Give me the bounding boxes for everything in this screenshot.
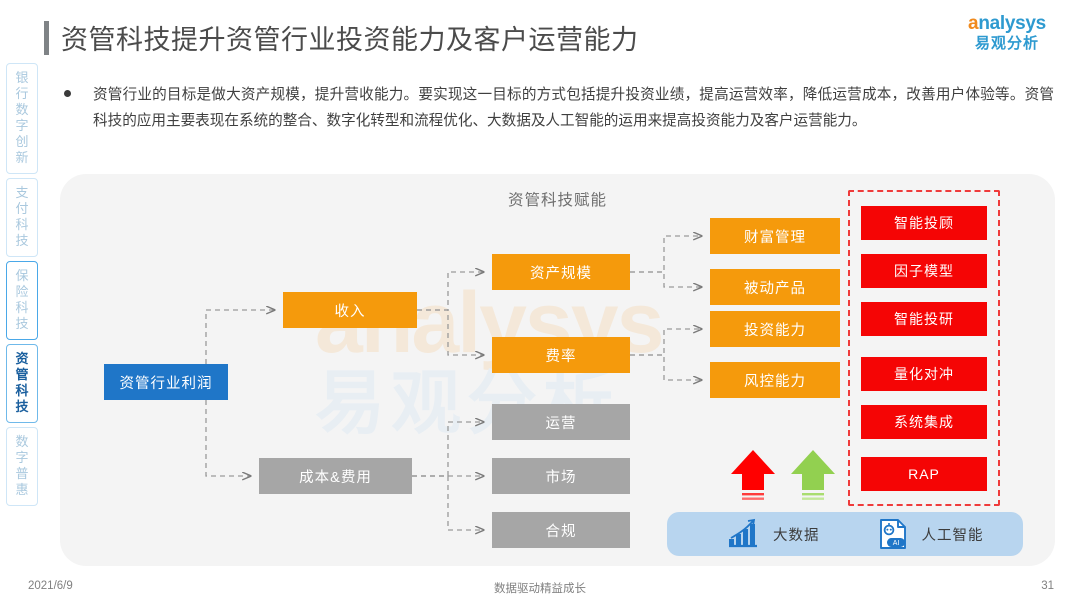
node-label: 费率: [546, 345, 577, 366]
node-label: 智能投研: [894, 309, 954, 329]
foundation-item-ai[interactable]: AI 人工智能: [876, 517, 984, 551]
node-operations[interactable]: 运营: [492, 404, 630, 440]
node-label: 量化对冲: [894, 364, 954, 384]
logo-letter-a: a: [968, 13, 978, 34]
node-label: 合规: [546, 520, 577, 541]
foundation-label: 大数据: [773, 524, 820, 545]
node-label: 资产规模: [530, 262, 592, 283]
tab-char: 付: [15, 201, 28, 217]
node-label: 风控能力: [744, 370, 806, 391]
ai-document-icon: AI: [876, 517, 910, 551]
tab-char: 惠: [15, 482, 28, 498]
analysys-logo: analysys 易观分析: [952, 14, 1062, 51]
sidebar-item-digital-inclusive-finance[interactable]: 数 字 普 惠: [6, 427, 38, 506]
red-up-arrow: [731, 450, 775, 500]
node-quant-hedging[interactable]: 量化对冲: [861, 357, 987, 391]
page-title: 资管科技提升资管行业投资能力及客户运营能力: [44, 18, 639, 57]
sidebar-item-bank-digital-innovation[interactable]: 银 行 数 字 创 新: [6, 63, 38, 174]
tab-char: 资: [15, 351, 28, 367]
node-label: RAP: [908, 466, 940, 482]
node-label: 因子模型: [894, 261, 954, 281]
node-label: 系统集成: [894, 412, 954, 432]
node-label: 资管行业利润: [120, 372, 213, 393]
bullet-paragraph-text: 资管行业的目标是做大资产规模，提升营收能力。要实现这一目标的方式包括提升投资业绩…: [93, 82, 1054, 134]
tab-char: 科: [15, 300, 28, 316]
footer: 2021/6/9 数据驱动精益成长 31: [0, 580, 1080, 596]
up-arrows: [725, 446, 855, 508]
node-label: 财富管理: [744, 226, 806, 247]
tab-char: 行: [15, 86, 28, 102]
tab-char: 创: [15, 134, 28, 150]
tab-char: 保: [15, 268, 28, 284]
node-factor-model[interactable]: 因子模型: [861, 254, 987, 288]
slide-root: 资管科技提升资管行业投资能力及客户运营能力 analysys 易观分析 资管行业…: [0, 0, 1080, 608]
bar-chart-icon: [723, 518, 761, 550]
tab-char: 普: [15, 466, 28, 482]
node-intelligent-research[interactable]: 智能投研: [861, 302, 987, 336]
node-label: 成本&费用: [299, 466, 372, 487]
sidebar-tabs: 银 行 数 字 创 新 支 付 科 技 保 险 科 技 资 管 科 技 数 字: [6, 63, 40, 510]
sidebar-item-insurance-tech[interactable]: 保 险 科 技: [6, 261, 38, 340]
node-label: 投资能力: [744, 319, 806, 340]
foundation-label: 人工智能: [922, 524, 984, 545]
footer-slogan: 数据驱动精益成长: [0, 580, 1080, 596]
tab-char: 管: [15, 367, 28, 383]
sidebar-item-payment-tech[interactable]: 支 付 科 技: [6, 178, 38, 257]
node-label: 被动产品: [744, 277, 806, 298]
logo-chinese-name: 易观分析: [952, 36, 1062, 51]
tab-char: 险: [15, 284, 28, 300]
node-label: 市场: [546, 466, 577, 487]
node-asset-scale[interactable]: 资产规模: [492, 254, 630, 290]
logo-wordmark: analysys: [952, 14, 1062, 33]
tab-char: 字: [15, 118, 28, 134]
diagram-card: 资管科技赋能 analysys 易观分析: [60, 174, 1055, 566]
foundation-panel: 大数据 AI 人工智能: [667, 512, 1023, 556]
node-market[interactable]: 市场: [492, 458, 630, 494]
node-rap[interactable]: RAP: [861, 457, 987, 491]
footer-page-number: 31: [1041, 580, 1054, 592]
tab-char: 数: [15, 102, 28, 118]
tab-char: 新: [15, 150, 28, 166]
node-revenue[interactable]: 收入: [283, 292, 417, 328]
node-fee-rate[interactable]: 费率: [492, 337, 630, 373]
node-investment-capability[interactable]: 投资能力: [710, 311, 840, 347]
foundation-item-bigdata[interactable]: 大数据: [723, 518, 820, 550]
node-wealth-management[interactable]: 财富管理: [710, 218, 840, 254]
node-compliance[interactable]: 合规: [492, 512, 630, 548]
tab-char: 技: [15, 316, 28, 332]
node-label: 智能投顾: [894, 213, 954, 233]
page-title-text: 资管科技提升资管行业投资能力及客户运营能力: [61, 18, 639, 57]
bullet-dot-icon: [64, 90, 71, 97]
node-label: 收入: [335, 300, 366, 321]
tab-char: 数: [15, 434, 28, 450]
node-passive-products[interactable]: 被动产品: [710, 269, 840, 305]
tab-char: 技: [15, 233, 28, 249]
node-system-integration[interactable]: 系统集成: [861, 405, 987, 439]
tab-char: 支: [15, 185, 28, 201]
node-label: 运营: [546, 412, 577, 433]
node-robo-advisor[interactable]: 智能投顾: [861, 206, 987, 240]
logo-wordmark-rest: nalysys: [978, 13, 1046, 34]
bullet-paragraph: 资管行业的目标是做大资产规模，提升营收能力。要实现这一目标的方式包括提升投资业绩…: [64, 82, 1054, 134]
tab-char: 科: [15, 383, 28, 399]
sidebar-item-asset-management-tech[interactable]: 资 管 科 技: [6, 344, 38, 423]
tab-char: 银: [15, 70, 28, 86]
node-risk-control-capability[interactable]: 风控能力: [710, 362, 840, 398]
svg-text:AI: AI: [892, 540, 899, 547]
tab-char: 科: [15, 217, 28, 233]
node-asset-management-profit[interactable]: 资管行业利润: [104, 364, 228, 400]
tab-char: 技: [15, 399, 28, 415]
title-accent-bar: [44, 21, 49, 55]
node-cost-and-expense[interactable]: 成本&费用: [259, 458, 412, 494]
tab-char: 字: [15, 450, 28, 466]
green-up-arrow: [791, 450, 835, 500]
